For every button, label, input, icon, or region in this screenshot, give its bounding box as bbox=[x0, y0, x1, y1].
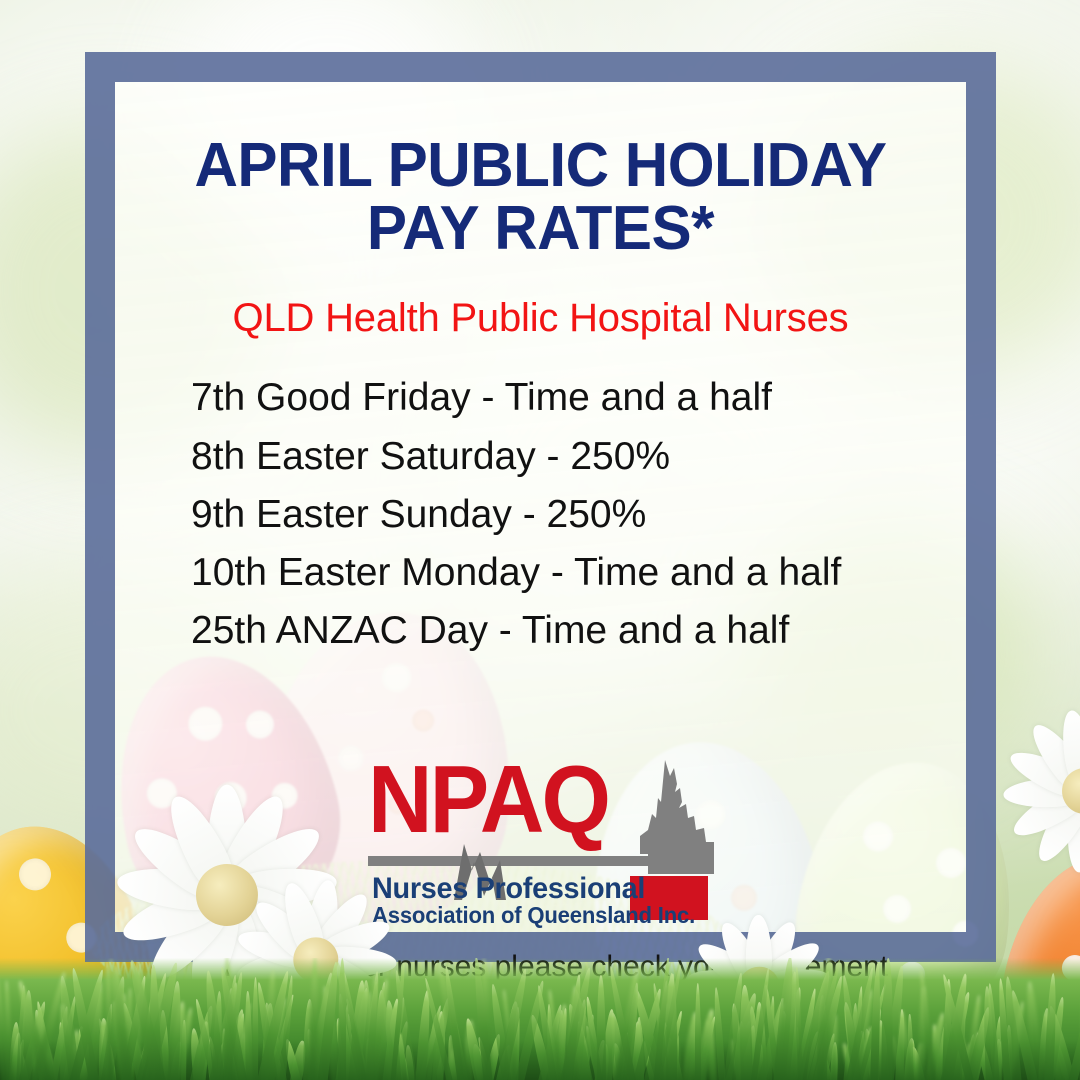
page-title-line-2: PAY RATES* bbox=[145, 197, 936, 260]
grass-blade bbox=[244, 991, 252, 1080]
page-subtitle: QLD Health Public Hospital Nurses bbox=[133, 296, 948, 341]
grass-blade bbox=[881, 958, 894, 1080]
npaq-wordmark: NPAQ bbox=[368, 752, 608, 848]
grass-foreground bbox=[0, 958, 1080, 1080]
page-title-line-1: APRIL PUBLIC HOLIDAY bbox=[145, 134, 936, 197]
logo-line-2: Association of Queensland Inc. bbox=[372, 902, 695, 929]
poster-canvas: APRIL PUBLIC HOLIDAY PAY RATES* QLD Heal… bbox=[0, 0, 1080, 1080]
grass-blade bbox=[695, 983, 701, 1080]
list-item: 7th Good Friday - Time and a half bbox=[191, 369, 948, 427]
list-item: 10th Easter Monday - Time and a half bbox=[191, 544, 948, 602]
logo-line-1: Nurses Professional bbox=[372, 872, 645, 906]
list-item: 25th ANZAC Day - Time and a half bbox=[191, 602, 948, 660]
list-item: 8th Easter Saturday - 250% bbox=[191, 428, 948, 486]
daisy-flower bbox=[1000, 706, 1080, 876]
grass-blade bbox=[596, 975, 605, 1080]
pay-rates-list: 7th Good Friday - Time and a half 8th Ea… bbox=[133, 369, 948, 660]
page-title: APRIL PUBLIC HOLIDAY PAY RATES* bbox=[145, 134, 936, 260]
poster-content: APRIL PUBLIC HOLIDAY PAY RATES* QLD Heal… bbox=[115, 82, 966, 660]
list-item: 9th Easter Sunday - 250% bbox=[191, 486, 948, 544]
